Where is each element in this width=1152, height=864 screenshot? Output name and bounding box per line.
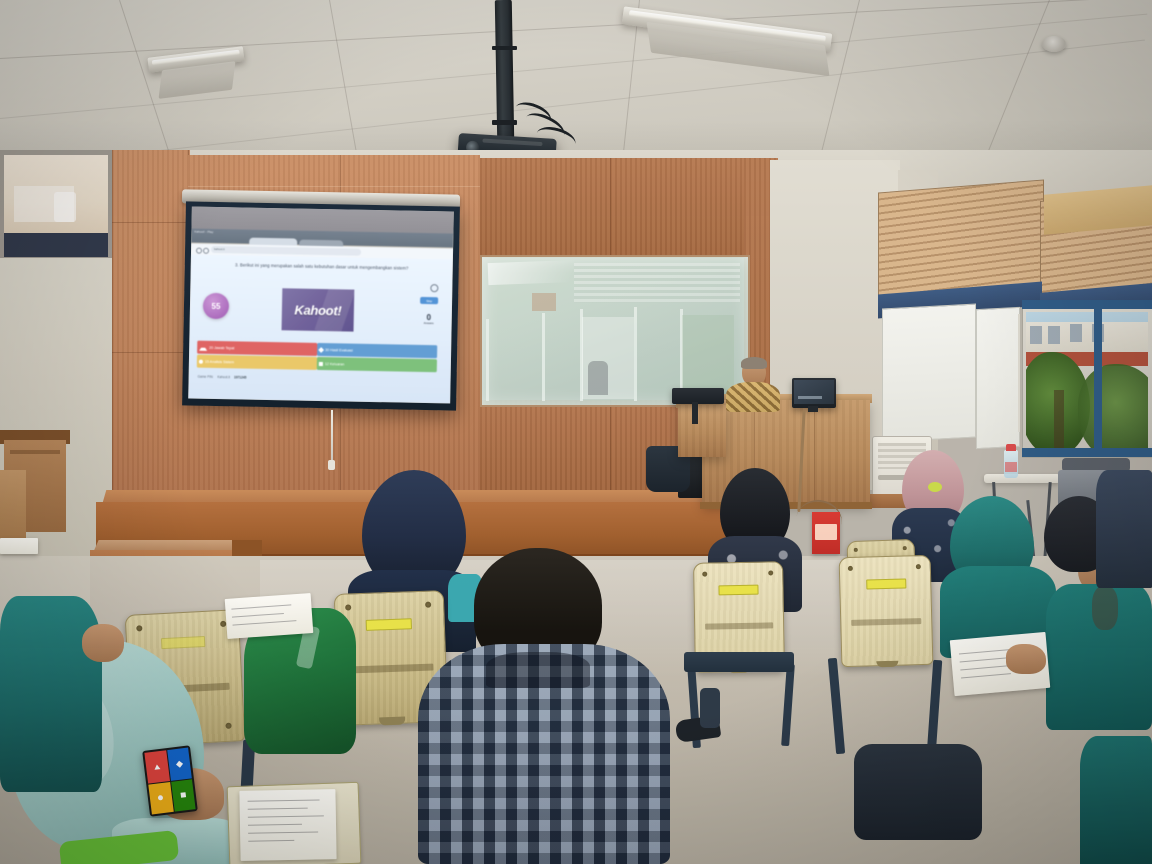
roller-shade-a[interactable] bbox=[882, 304, 976, 443]
secondary-monitor-back bbox=[672, 388, 724, 404]
right-edge-garment bbox=[1096, 470, 1152, 588]
kahoot-game-page: 3. Berikut ini yang merupakan salah satu… bbox=[188, 254, 453, 403]
papers-on-left-desk bbox=[0, 538, 38, 554]
participant-right-bottom-shoulder bbox=[1080, 736, 1152, 864]
kahoot-footer-pin-label: Game PIN: bbox=[198, 375, 214, 379]
square-shape-icon bbox=[319, 361, 323, 365]
outside-tree-trunk bbox=[1054, 390, 1064, 452]
browser-window-title: Kahoot! - Play bbox=[194, 230, 213, 234]
kahoot-answer-option-a[interactable]: 20 Jawab Tepat bbox=[197, 341, 317, 356]
left-window-reflection bbox=[54, 192, 76, 222]
water-bottle[interactable] bbox=[1004, 450, 1018, 478]
reader-collar-strap bbox=[1092, 586, 1118, 630]
glass-light-streak bbox=[488, 259, 609, 285]
left-window-band bbox=[4, 233, 108, 257]
kahoot-answer-label-b: 30 Hasil Evaluasi bbox=[325, 348, 353, 353]
leg bbox=[700, 688, 720, 728]
teal-garment-left bbox=[0, 596, 102, 792]
phone-answer-blue[interactable] bbox=[167, 748, 192, 781]
side-lectern bbox=[678, 405, 726, 457]
chair-asset-tag-text bbox=[705, 622, 773, 629]
projector-screen-surface: Kahoot! - Play kahoot.it 3. Berikut ini … bbox=[188, 207, 454, 404]
outside-tree bbox=[1078, 364, 1148, 452]
kahoot-answer-option-d[interactable]: 12 Keluaran bbox=[317, 357, 437, 372]
diamond-shape-icon bbox=[318, 347, 324, 353]
chair-seat bbox=[684, 652, 794, 672]
chair-back-right-of-center[interactable] bbox=[839, 555, 934, 667]
glass-mullion bbox=[542, 313, 545, 401]
circle-shape-icon bbox=[199, 359, 203, 363]
phone-with-kahoot-answers[interactable] bbox=[142, 745, 198, 816]
window-right-glass bbox=[1026, 312, 1148, 452]
roller-shade-cord[interactable] bbox=[1018, 314, 1020, 432]
window-mullion-bottom bbox=[1022, 448, 1152, 457]
projector-pole-collar bbox=[492, 120, 517, 125]
wood-seam bbox=[610, 400, 611, 490]
outside-building-window bbox=[1030, 326, 1042, 344]
glass-mullion bbox=[634, 307, 637, 401]
secondary-monitor-stand bbox=[692, 402, 698, 424]
gear-icon[interactable] bbox=[430, 284, 438, 292]
wood-seam bbox=[112, 222, 190, 223]
kahoot-media-sheen bbox=[314, 288, 354, 331]
classroom-photo-scene: Kahoot! - Play kahoot.it 3. Berikut ini … bbox=[0, 0, 1152, 864]
kahoot-answer-label-a: 20 Jawab Tepat bbox=[209, 345, 234, 349]
outside-building-window bbox=[1048, 326, 1060, 344]
kahoot-answers-count: 0 bbox=[418, 314, 440, 322]
kahoot-question-media: Kahoot! bbox=[282, 288, 355, 331]
presenter-batik-shirt bbox=[726, 382, 780, 412]
left-desk-seam bbox=[10, 450, 60, 454]
participant-hand-left bbox=[82, 624, 124, 662]
triangle-shape-icon bbox=[154, 764, 161, 770]
projector-screen-pull-cord[interactable] bbox=[331, 410, 333, 462]
browser-back-icon[interactable] bbox=[196, 248, 202, 254]
diamond-shape-icon bbox=[176, 760, 183, 767]
glass-mullion bbox=[486, 319, 489, 401]
wood-seam bbox=[188, 186, 480, 187]
phone-answer-green[interactable] bbox=[171, 779, 196, 812]
kahoot-answer-option-c[interactable]: 15 Analisis Sistem bbox=[197, 355, 317, 370]
wood-seam bbox=[610, 158, 611, 258]
kahoot-question-number: 3. bbox=[235, 262, 239, 267]
window-mullion-vertical bbox=[1094, 306, 1102, 456]
desktop-monitor-stand bbox=[808, 406, 818, 412]
left-desk-side bbox=[0, 470, 26, 540]
chair-asset-tag-text bbox=[851, 618, 921, 626]
plaid-man-collar bbox=[486, 652, 590, 688]
projector-pole-collar bbox=[492, 46, 517, 50]
presenter-hair bbox=[741, 357, 767, 369]
presenter bbox=[726, 358, 780, 410]
kahoot-answer-label-d: 12 Keluaran bbox=[325, 362, 344, 366]
water-bottle-cap bbox=[1006, 444, 1016, 451]
kahoot-answer-option-b[interactable]: 30 Hasil Evaluasi bbox=[317, 343, 437, 358]
glass-silhouette-person bbox=[588, 361, 608, 395]
projector-screen-cord-knob[interactable] bbox=[328, 460, 335, 470]
handout-mid-left[interactable] bbox=[225, 593, 314, 639]
phone-answer-yellow[interactable] bbox=[148, 782, 173, 815]
handout-left[interactable] bbox=[239, 789, 336, 861]
kahoot-question-text: Berikut ini yang merupakan salah satu ke… bbox=[240, 262, 408, 270]
glass-reflection-warm bbox=[532, 293, 556, 311]
glass-partition bbox=[480, 255, 750, 407]
participant-plaid-shirt bbox=[390, 548, 690, 864]
ceiling-speaker bbox=[1042, 36, 1066, 52]
projector-screen-frame: Kahoot! - Play kahoot.it 3. Berikut ini … bbox=[182, 201, 460, 410]
projected-browser-window: Kahoot! - Play kahoot.it 3. Berikut ini … bbox=[188, 207, 454, 404]
wood-seam bbox=[112, 352, 190, 353]
kahoot-answer-label-c: 15 Analisis Sistem bbox=[205, 359, 234, 364]
desktop-monitor bbox=[792, 378, 836, 408]
square-shape-icon bbox=[180, 792, 186, 798]
triangle-shape-icon bbox=[199, 344, 207, 351]
phone-answer-red[interactable] bbox=[144, 750, 169, 783]
outside-building-window bbox=[1070, 324, 1082, 342]
kahoot-skip-button[interactable]: Skip bbox=[420, 297, 438, 304]
roller-shade-b[interactable] bbox=[976, 307, 1020, 449]
hijab-pin bbox=[928, 482, 942, 492]
circle-shape-icon bbox=[158, 795, 164, 801]
browser-address-text: kahoot.it bbox=[214, 247, 225, 251]
kahoot-footer-brand: Kahoot.it bbox=[217, 375, 230, 379]
window-mullion-top bbox=[1022, 300, 1152, 309]
kahoot-timer: 55 bbox=[203, 293, 229, 319]
red-product-box[interactable] bbox=[812, 512, 840, 554]
bag-on-floor-right bbox=[854, 744, 982, 840]
wood-wall-above-glass bbox=[480, 158, 770, 258]
participant-right-edge-partial bbox=[1096, 470, 1152, 590]
kahoot-answers-label: Answers bbox=[418, 323, 440, 326]
kahoot-footer-pin-value: 1971245 bbox=[234, 375, 246, 379]
